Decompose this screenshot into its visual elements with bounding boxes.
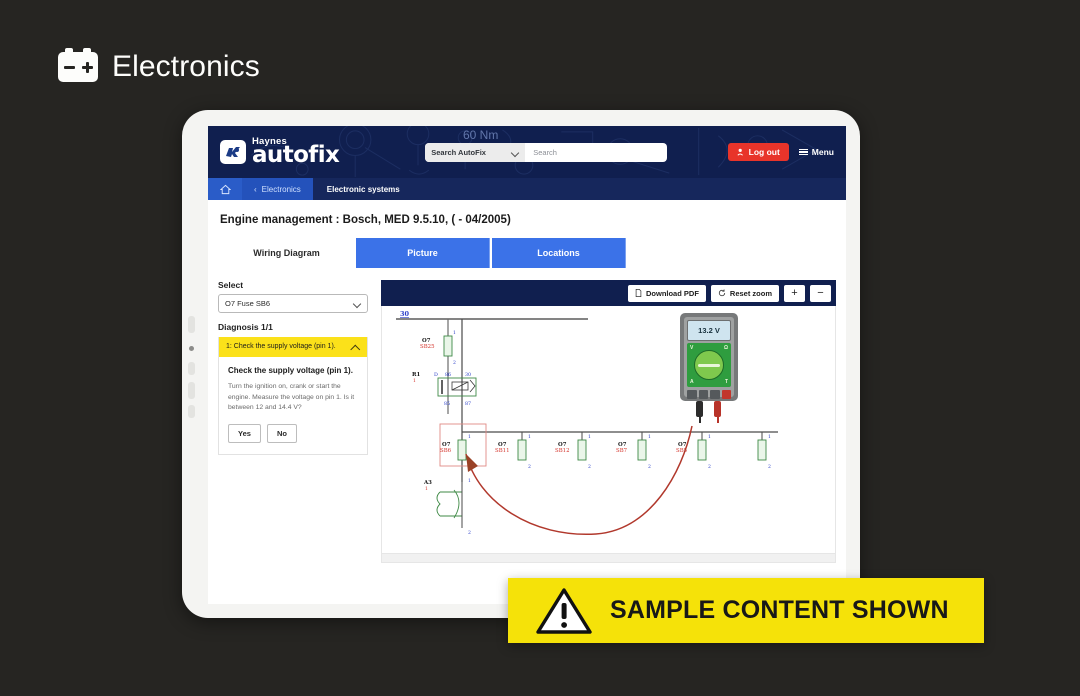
breadcrumb-home-button[interactable] [208,178,242,200]
svg-text:SB6: SB6 [440,448,452,454]
brand-header: Electronics [58,50,260,84]
svg-text:1: 1 [708,434,711,440]
svg-text:1: 1 [453,330,456,336]
page-title: Engine management : Bosch, MED 9.5.10, (… [220,214,836,226]
menu-label: Menu [812,147,834,157]
sample-content-banner: SAMPLE CONTENT SHOWN [508,578,984,643]
svg-text:1: 1 [528,434,531,440]
svg-text:2: 2 [453,360,456,366]
document-icon [635,289,642,297]
breadcrumb-parent-label: Electronics [262,185,301,194]
svg-text:2: 2 [708,464,711,470]
multimeter-rotary-dial[interactable] [694,350,724,380]
diagnosis-panel: Select O7 Fuse SB6 Diagnosis 1/1 1: Chec… [218,280,368,563]
svg-text:1: 1 [588,434,591,440]
tablet-device: 60 Nm Haynes autofix Sea [182,110,860,618]
app-header-actions: Log out Menu [728,143,834,161]
svg-text:D: D [434,372,438,378]
reset-zoom-label: Reset zoom [730,289,772,298]
svg-text:A3: A3 [423,480,432,486]
search-scope-select[interactable]: Search AutoFix [425,143,525,162]
accordion-body: Check the supply voltage (pin 1). Turn t… [219,357,367,454]
step-instructions: Turn the ignition on, crank or start the… [228,382,358,414]
chevron-up-icon [352,344,360,352]
svg-text:R1: R1 [412,372,420,378]
accordion-header[interactable]: 1: Check the supply voltage (pin 1). [219,337,367,357]
step-title: Check the supply voltage (pin 1). [228,365,358,376]
red-probe-lead [714,401,721,417]
jack-com [710,390,720,399]
app-header: 60 Nm Haynes autofix Sea [208,126,846,178]
tablet-side-button[interactable] [188,316,195,333]
multimeter-reading: 13.2 V [698,326,720,335]
svg-text:30: 30 [465,372,471,378]
haynes-logo-icon [220,140,246,164]
download-pdf-button[interactable]: Download PDF [628,285,706,302]
dial-label-amps: A [690,379,694,385]
svg-text:2: 2 [768,464,771,470]
no-button[interactable]: No [267,424,297,443]
search-input[interactable]: Search [525,148,667,157]
svg-text:SB7: SB7 [616,448,628,454]
screenshot-root: Electronics [0,0,1080,696]
tablet-camera-dot [189,346,194,351]
multimeter-jacks [687,390,731,399]
tab-picture[interactable]: Picture [356,238,490,268]
chevron-left-icon: ‹ [254,185,257,194]
yes-button[interactable]: Yes [228,424,261,443]
reset-zoom-button[interactable]: Reset zoom [711,285,779,302]
svg-text:1: 1 [468,434,471,440]
header-art-torque-label: 60 Nm [463,128,498,142]
svg-text:SB25: SB25 [420,344,435,350]
diagram-viewer: Download PDF Reset zoom + − [381,280,836,563]
sample-banner-text: SAMPLE CONTENT SHOWN [610,596,949,625]
haynes-autofix-logo[interactable]: Haynes autofix [220,137,339,167]
multimeter: 13.2 V V Ω A T [680,313,738,423]
horizontal-scrollbar[interactable] [381,554,836,563]
svg-text:SB12: SB12 [555,448,570,454]
zoom-out-button[interactable]: − [810,285,831,302]
tablet-screen: 60 Nm Haynes autofix Sea [208,126,846,604]
svg-text:1: 1 [425,486,428,492]
diagnosis-accordion: 1: Check the supply voltage (pin 1). Che… [218,337,368,455]
home-icon [220,184,231,195]
svg-text:2: 2 [528,464,531,470]
multimeter-display: 13.2 V [687,320,731,341]
download-pdf-label: Download PDF [646,289,699,298]
svg-text:2: 2 [468,530,471,536]
battery-icon [58,52,98,82]
select-label: Select [218,280,368,290]
zoom-in-button[interactable]: + [784,285,805,302]
component-select-value: O7 Fuse SB6 [225,299,270,308]
jack-a [687,390,697,399]
component-select[interactable]: O7 Fuse SB6 [218,294,368,313]
search-scope-label: Search AutoFix [431,148,486,157]
svg-text:87: 87 [465,401,471,407]
black-probe-lead [696,401,703,417]
page-content: Engine management : Bosch, MED 9.5.10, (… [208,200,846,604]
dial-label-ohms: Ω [724,345,728,351]
tab-bar: Wiring Diagram Picture Locations [220,238,836,268]
svg-text:1: 1 [468,478,471,484]
svg-text:86: 86 [445,372,451,378]
svg-text:2: 2 [588,464,591,470]
viewer-toolbar: Download PDF Reset zoom + − [381,280,836,306]
accordion-header-label: 1: Check the supply voltage (pin 1). [226,342,336,351]
search-bar: Search AutoFix Search [425,143,667,162]
svg-text:85: 85 [444,401,450,407]
tab-wiring-diagram[interactable]: Wiring Diagram [220,238,354,268]
multimeter-body: 13.2 V V Ω A T [680,313,738,401]
dial-label-temp: T [725,379,728,385]
svg-text:SB11: SB11 [495,448,510,454]
logout-label: Log out [749,147,780,157]
svg-text:1: 1 [648,434,651,440]
tablet-side-button[interactable] [188,405,195,418]
diagnosis-heading: Diagnosis 1/1 [218,322,368,332]
multimeter-dial-area: V Ω A T [687,343,731,387]
user-icon [737,148,745,156]
refresh-icon [718,289,726,297]
svg-text:1: 1 [768,434,771,440]
tablet-side-button[interactable] [188,362,195,375]
logout-button[interactable]: Log out [728,143,789,161]
wiring-diagram-canvas[interactable]: 30 O7 SB25 1 [381,306,836,554]
breadcrumb: ‹ Electronics Electronic systems [208,178,846,200]
wiring-diagram-svg: 30 O7 SB25 1 [382,306,836,554]
menu-button[interactable]: Menu [799,147,834,157]
hamburger-icon [799,149,808,156]
brand-title: Electronics [112,50,260,84]
dial-label-voltage: V [690,345,693,351]
chevron-down-icon [512,149,519,156]
jack-vohm [722,390,732,399]
tablet-side-button[interactable] [188,382,195,399]
logo-autofix-text: autofix [252,144,339,167]
tab-locations[interactable]: Locations [492,238,626,268]
jack-ma [699,390,709,399]
breadcrumb-current: Electronic systems [313,178,414,200]
answer-buttons: Yes No [228,424,358,443]
breadcrumb-item-electronics[interactable]: ‹ Electronics [242,178,313,200]
chevron-down-icon [354,300,361,307]
warning-triangle-icon [536,587,592,635]
panels: Select O7 Fuse SB6 Diagnosis 1/1 1: Chec… [218,280,836,563]
svg-text:1: 1 [413,378,416,384]
svg-text:2: 2 [648,464,651,470]
multimeter-leads [680,401,738,423]
svg-text:30: 30 [400,310,410,318]
